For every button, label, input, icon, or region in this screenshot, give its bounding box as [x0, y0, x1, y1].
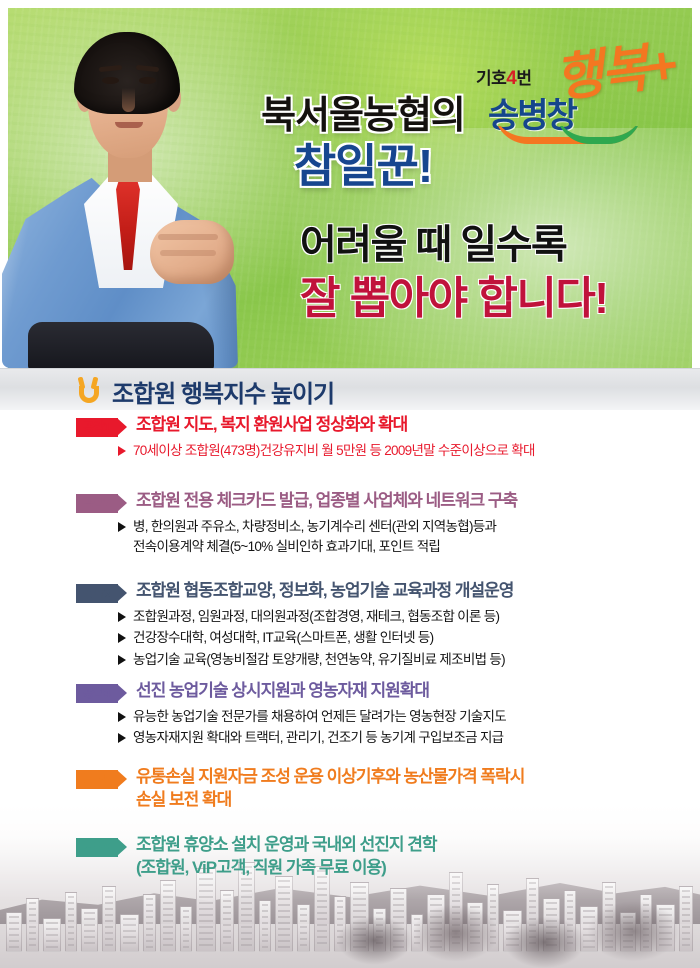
- pledge-item-3: 공약3조합원 협동조합교양, 정보화, 농업기술 교육과정 개설운영조합원과정,…: [0, 580, 700, 671]
- pledge-badge-label: 공약6: [83, 840, 110, 854]
- pledge-sub-list-4: 유능한 농업기술 전문가를 채용하여 언제든 달려가는 영농현장 기술지도영농자…: [0, 707, 700, 749]
- pledge-badge-label: 공약2: [83, 496, 110, 510]
- bullet-triangle-icon: [118, 612, 126, 622]
- pledge-title-3: 조합원 협동조합교양, 정보화, 농업기술 교육과정 개설운영: [126, 580, 700, 603]
- headline-line-2: 참일꾼!: [238, 130, 488, 196]
- pledge-item-6: 공약6조합원 휴양소 설치 운영과 국내외 선진지 견학 (조합원, ViP고객…: [0, 834, 700, 880]
- pledge-heading-6: 공약6조합원 휴양소 설치 운영과 국내외 선진지 견학 (조합원, ViP고객…: [0, 834, 700, 880]
- candidate-eye-left: [102, 77, 119, 84]
- pledge-title-2: 조합원 전용 체크카드 발급, 업종별 사업체와 네트워크 구축: [126, 490, 700, 513]
- pledge-badge-label: 공약5: [83, 772, 110, 786]
- pledge-sub-item: 70세이상 조합원(473명)건강유지비 월 5만원 등 2009년말 수준이상…: [118, 441, 700, 461]
- pledge-heading-3: 공약3조합원 협동조합교양, 정보화, 농업기술 교육과정 개설운영: [0, 580, 700, 603]
- slogan-line-2: 잘 뽑아야 합니다!: [300, 262, 680, 326]
- nh-nonghyup-logo-icon: [76, 377, 102, 403]
- candidate-portrait-photo: [0, 22, 238, 368]
- brand-swoosh-graphic: [494, 126, 642, 148]
- campaign-poster: 북서울농협의 참일꾼! 어려울 때 일수록 잘 뽑아야 합니다! 행복+ 기호4…: [0, 0, 700, 968]
- pledge-sub-list-1: 70세이상 조합원(473명)건강유지비 월 5만원 등 2009년말 수준이상…: [0, 441, 700, 461]
- pledge-item-2: 공약2조합원 전용 체크카드 발급, 업종별 사업체와 네트워크 구축병, 한의…: [0, 490, 700, 559]
- section-title: 조합원 행복지수 높이기: [112, 374, 334, 409]
- bullet-triangle-icon: [118, 446, 126, 456]
- pledge-badge-2: 공약2: [76, 494, 118, 513]
- pledge-sub-item: 농업기술 교육(영농비절감 토양개량, 천연농약, 유기질비료 제조비법 등): [118, 650, 700, 670]
- campaign-brand-logo: 행복+ 기호4번 송병창: [452, 22, 682, 142]
- pledge-heading-4: 공약4선진 농업기술 상시지원과 영농자재 지원확대: [0, 680, 700, 703]
- pledge-badge-label: 공약1: [83, 420, 110, 434]
- candidate-clasped-hands: [150, 220, 234, 284]
- ballot-number-suffix: 번: [516, 69, 531, 88]
- pledge-sub-list-3: 조합원과정, 임원과정, 대의원과정(조합경영, 재테크, 협동조합 이론 등)…: [0, 607, 700, 670]
- bullet-triangle-icon: [118, 655, 126, 665]
- pledge-heading-5: 공약5유통손실 지원자금 조성 운용 이상기후와 농산물가격 폭락시 손실 보전…: [0, 766, 700, 812]
- atmospheric-haze: [0, 798, 700, 968]
- pledge-sub-item: 영농자재지원 확대와 트랙터, 관리기, 건조기 등 농기계 구입보조금 지급: [118, 728, 700, 748]
- pledge-sub-item: 병, 한의원과 주유소, 차량정비소, 농기계수리 센터(관외 지역농협)등과 …: [118, 517, 700, 558]
- pledge-title-6: 조합원 휴양소 설치 운영과 국내외 선진지 견학 (조합원, ViP고객, 직…: [126, 834, 700, 880]
- city-skyline-background: [0, 798, 700, 968]
- pledge-badge-label: 공약3: [83, 586, 110, 600]
- pledge-badge-6: 공약6: [76, 838, 118, 857]
- pledge-item-4: 공약4선진 농업기술 상시지원과 영농자재 지원확대유능한 농업기술 전문가를 …: [0, 680, 700, 750]
- bullet-triangle-icon: [118, 712, 126, 722]
- pledge-title-4: 선진 농업기술 상시지원과 영농자재 지원확대: [126, 680, 700, 703]
- ballot-number-digit: 4: [506, 68, 516, 89]
- pledge-badge-1: 공약1: [76, 418, 118, 437]
- ballot-number-label: 기호4번: [476, 64, 532, 90]
- candidate-nose: [122, 88, 135, 112]
- bullet-triangle-icon: [118, 733, 126, 743]
- pledge-heading-1: 공약1조합원 지도, 복지 환원사업 정상화와 확대: [0, 414, 700, 437]
- pledge-badge-5: 공약5: [76, 770, 118, 789]
- ballot-number-prefix: 기호: [476, 69, 506, 88]
- pledge-badge-label: 공약4: [83, 686, 110, 700]
- pledge-sub-list-2: 병, 한의원과 주유소, 차량정비소, 농기계수리 센터(관외 지역농협)등과 …: [0, 517, 700, 558]
- pledge-item-5: 공약5유통손실 지원자금 조성 운용 이상기후와 농산물가격 폭락시 손실 보전…: [0, 766, 700, 812]
- bullet-triangle-icon: [118, 522, 126, 532]
- pledge-heading-2: 공약2조합원 전용 체크카드 발급, 업종별 사업체와 네트워크 구축: [0, 490, 700, 513]
- candidate-eye-right: [139, 77, 156, 84]
- pledge-item-1: 공약1조합원 지도, 복지 환원사업 정상화와 확대70세이상 조합원(473명…: [0, 414, 700, 462]
- bullet-triangle-icon: [118, 633, 126, 643]
- pledge-title-5: 유통손실 지원자금 조성 운용 이상기후와 농산물가격 폭락시 손실 보전 확대: [126, 766, 700, 812]
- pledge-sub-item: 건강장수대학, 여성대학, IT교육(스마트폰, 생활 인터넷 등): [118, 628, 700, 648]
- pledge-title-1: 조합원 지도, 복지 환원사업 정상화와 확대: [126, 414, 700, 437]
- section-header-band: [0, 368, 700, 410]
- candidate-mouth: [115, 122, 143, 128]
- pledge-sub-item: 조합원과정, 임원과정, 대의원과정(조합경영, 재테크, 협동조합 이론 등): [118, 607, 700, 627]
- pledge-badge-3: 공약3: [76, 584, 118, 603]
- pledge-badge-4: 공약4: [76, 684, 118, 703]
- pledge-sub-item: 유능한 농업기술 전문가를 채용하여 언제든 달려가는 영농현장 기술지도: [118, 707, 700, 727]
- candidate-lap: [28, 322, 214, 370]
